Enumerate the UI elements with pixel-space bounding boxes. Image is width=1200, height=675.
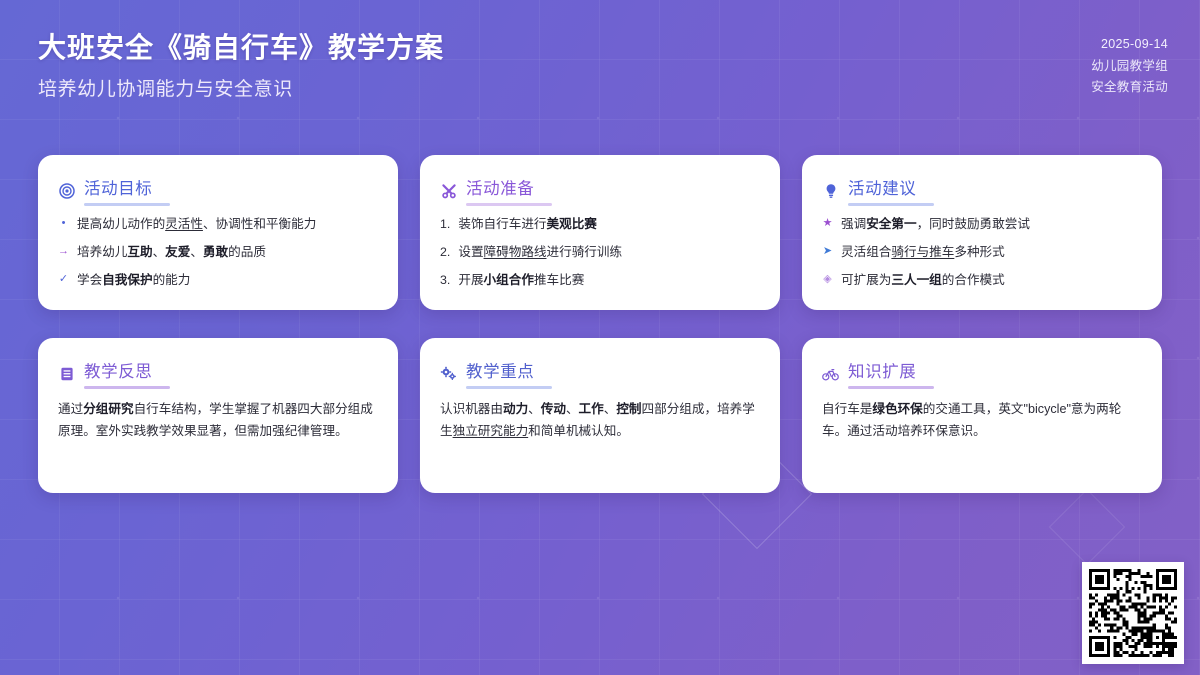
list-item-number: 3. bbox=[440, 271, 450, 290]
card-suggestions: 活动建议★强调安全第一，同时鼓励勇敢尝试➤灵活组合骑行与推车多种形式◈可扩展为三… bbox=[802, 155, 1162, 310]
list-item-number: 2. bbox=[440, 243, 450, 262]
card-title: 活动目标 bbox=[84, 175, 152, 206]
header-meta: 2025-09-14 幼儿园教学组 安全教育活动 bbox=[1091, 34, 1168, 99]
card-grid: 活动目标•提高幼儿动作的灵活性、协调性和平衡能力→培养幼儿互助、友爱、勇敢的品质… bbox=[38, 155, 1162, 493]
list-item: ➤灵活组合骑行与推车多种形式 bbox=[822, 243, 1142, 262]
card-title: 活动准备 bbox=[466, 175, 534, 206]
card-title: 活动建议 bbox=[848, 175, 916, 206]
bullet-list: •提高幼儿动作的灵活性、协调性和平衡能力→培养幼儿互助、友爱、勇敢的品质✓学会自… bbox=[58, 215, 378, 290]
book-icon bbox=[58, 365, 75, 382]
tools-icon bbox=[440, 182, 457, 199]
card-header: 教学反思 bbox=[58, 358, 378, 389]
bullet-marker-icon: → bbox=[58, 243, 69, 261]
list-item: ◈可扩展为三人一组的合作模式 bbox=[822, 271, 1142, 290]
card-title: 教学反思 bbox=[84, 358, 152, 389]
card-reflection: 教学反思通过分组研究自行车结构，学生掌握了机器四大部分组成原理。室外实践教学效果… bbox=[38, 338, 398, 493]
card-title: 教学重点 bbox=[466, 358, 534, 389]
bullet-marker-icon: ✓ bbox=[58, 271, 69, 289]
list-item: 2.设置障碍物路线进行骑行训练 bbox=[440, 243, 760, 262]
page-title: 大班安全《骑自行车》教学方案 bbox=[38, 30, 1168, 65]
bullet-marker-icon: ➤ bbox=[822, 243, 833, 261]
list-item-text: 学会自我保护的能力 bbox=[77, 271, 190, 290]
meta-org: 幼儿园教学组 bbox=[1091, 56, 1168, 78]
card-header: 教学重点 bbox=[440, 358, 760, 389]
list-item-text: 可扩展为三人一组的合作模式 bbox=[841, 271, 1005, 290]
list-item-text: 灵活组合骑行与推车多种形式 bbox=[841, 243, 1005, 262]
list-item-text: 强调安全第一，同时鼓励勇敢尝试 bbox=[841, 215, 1030, 234]
meta-date: 2025-09-14 bbox=[1091, 34, 1168, 56]
page-subtitle: 培养幼儿协调能力与安全意识 bbox=[38, 74, 1168, 101]
list-item-text: 设置障碍物路线进行骑行训练 bbox=[458, 243, 622, 262]
meta-category: 安全教育活动 bbox=[1091, 77, 1168, 99]
card-paragraph: 自行车是绿色环保的交通工具，英文"bicycle"意为两轮车。通过活动培养环保意… bbox=[822, 399, 1142, 442]
card-header: 活动目标 bbox=[58, 175, 378, 206]
card-paragraph: 认识机器由动力、传动、工作、控制四部分组成，培养学生独立研究能力和简单机械认知。 bbox=[440, 399, 760, 442]
lightbulb-icon bbox=[822, 182, 839, 199]
card-preparation: 活动准备1.装饰自行车进行美观比赛2.设置障碍物路线进行骑行训练3.开展小组合作… bbox=[420, 155, 780, 310]
bullet-marker-icon: ★ bbox=[822, 215, 833, 233]
slide-header: 大班安全《骑自行车》教学方案 培养幼儿协调能力与安全意识 2025-09-14 … bbox=[38, 30, 1168, 126]
decorative-diamond-small bbox=[1049, 489, 1125, 565]
list-item: ✓学会自我保护的能力 bbox=[58, 271, 378, 290]
list-item: ★强调安全第一，同时鼓励勇敢尝试 bbox=[822, 215, 1142, 234]
list-item: 3.开展小组合作推车比赛 bbox=[440, 271, 760, 290]
bullet-marker-icon: • bbox=[58, 215, 69, 233]
card-knowledge: 知识扩展自行车是绿色环保的交通工具，英文"bicycle"意为两轮车。通过活动培… bbox=[802, 338, 1162, 493]
list-item: →培养幼儿互助、友爱、勇敢的品质 bbox=[58, 243, 378, 262]
card-header: 活动准备 bbox=[440, 175, 760, 206]
target-icon bbox=[58, 182, 75, 199]
ordered-list: 1.装饰自行车进行美观比赛2.设置障碍物路线进行骑行训练3.开展小组合作推车比赛 bbox=[440, 215, 760, 290]
card-title: 知识扩展 bbox=[848, 358, 916, 389]
card-header: 活动建议 bbox=[822, 175, 1142, 206]
list-item-text: 提高幼儿动作的灵活性、协调性和平衡能力 bbox=[77, 215, 316, 234]
bullet-list: ★强调安全第一，同时鼓励勇敢尝试➤灵活组合骑行与推车多种形式◈可扩展为三人一组的… bbox=[822, 215, 1142, 290]
list-item-text: 装饰自行车进行美观比赛 bbox=[458, 215, 597, 234]
bicycle-icon bbox=[822, 365, 839, 382]
list-item-text: 开展小组合作推车比赛 bbox=[458, 271, 584, 290]
card-key-points: 教学重点认识机器由动力、传动、工作、控制四部分组成，培养学生独立研究能力和简单机… bbox=[420, 338, 780, 493]
list-item-number: 1. bbox=[440, 215, 450, 234]
list-item-text: 培养幼儿互助、友爱、勇敢的品质 bbox=[77, 243, 266, 262]
card-header: 知识扩展 bbox=[822, 358, 1142, 389]
bullet-marker-icon: ◈ bbox=[822, 271, 833, 289]
qr-code[interactable] bbox=[1082, 562, 1184, 664]
gears-icon bbox=[440, 365, 457, 382]
slide-canvas: 大班安全《骑自行车》教学方案 培养幼儿协调能力与安全意识 2025-09-14 … bbox=[0, 0, 1200, 675]
card-paragraph: 通过分组研究自行车结构，学生掌握了机器四大部分组成原理。室外实践教学效果显著，但… bbox=[58, 399, 378, 442]
list-item: 1.装饰自行车进行美观比赛 bbox=[440, 215, 760, 234]
list-item: •提高幼儿动作的灵活性、协调性和平衡能力 bbox=[58, 215, 378, 234]
card-objectives: 活动目标•提高幼儿动作的灵活性、协调性和平衡能力→培养幼儿互助、友爱、勇敢的品质… bbox=[38, 155, 398, 310]
